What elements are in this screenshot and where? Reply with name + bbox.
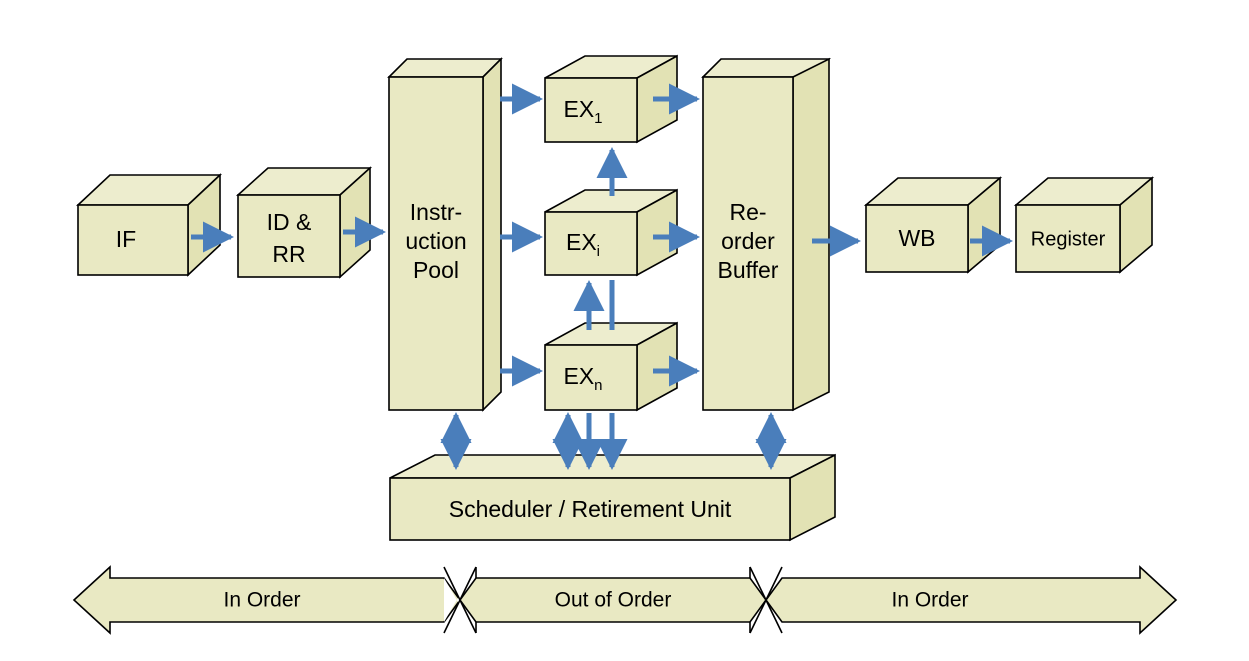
band-in-order-front-label: In Order	[223, 589, 300, 612]
box-wb[interactable]: WB	[866, 178, 1000, 272]
box-exi[interactable]: EXi	[545, 190, 677, 275]
pipeline-diagram: IF ID & RR Instr- uction Pool EX1 EXi EX…	[0, 0, 1249, 661]
box-id-rr-label-line1: ID &	[267, 209, 312, 235]
band-in-order-back-label: In Order	[891, 589, 968, 612]
box-instruction-pool-label-line3: Pool	[413, 257, 459, 283]
box-reorder-buffer[interactable]: Re- order Buffer	[703, 59, 829, 410]
box-register[interactable]: Register	[1016, 178, 1152, 272]
box-reorder-buffer-side	[793, 59, 829, 410]
box-instruction-pool-label-line2: uction	[405, 228, 466, 254]
box-exn[interactable]: EXn	[545, 323, 677, 410]
box-instruction-pool[interactable]: Instr- uction Pool	[389, 59, 501, 410]
box-if-label: IF	[116, 226, 136, 252]
box-instruction-pool-top	[389, 59, 501, 77]
box-id-rr-label-line2: RR	[272, 241, 305, 267]
box-reorder-buffer-label-line3: Buffer	[718, 257, 779, 283]
box-wb-label: WB	[898, 225, 935, 251]
band-out-of-order-label: Out of Order	[555, 589, 672, 612]
box-scheduler-label: Scheduler / Retirement Unit	[449, 496, 732, 522]
diagram-canvas: IF ID & RR Instr- uction Pool EX1 EXi EX…	[0, 0, 1249, 661]
box-reorder-buffer-label-line2: order	[721, 228, 775, 254]
box-register-label: Register	[1031, 228, 1106, 250]
box-id-rr[interactable]: ID & RR	[238, 168, 370, 277]
box-if[interactable]: IF	[78, 175, 220, 275]
box-instruction-pool-label-line1: Instr-	[410, 199, 462, 225]
box-instruction-pool-side	[483, 59, 501, 410]
box-reorder-buffer-label-line1: Re-	[729, 199, 766, 225]
box-scheduler[interactable]: Scheduler / Retirement Unit	[390, 455, 835, 540]
